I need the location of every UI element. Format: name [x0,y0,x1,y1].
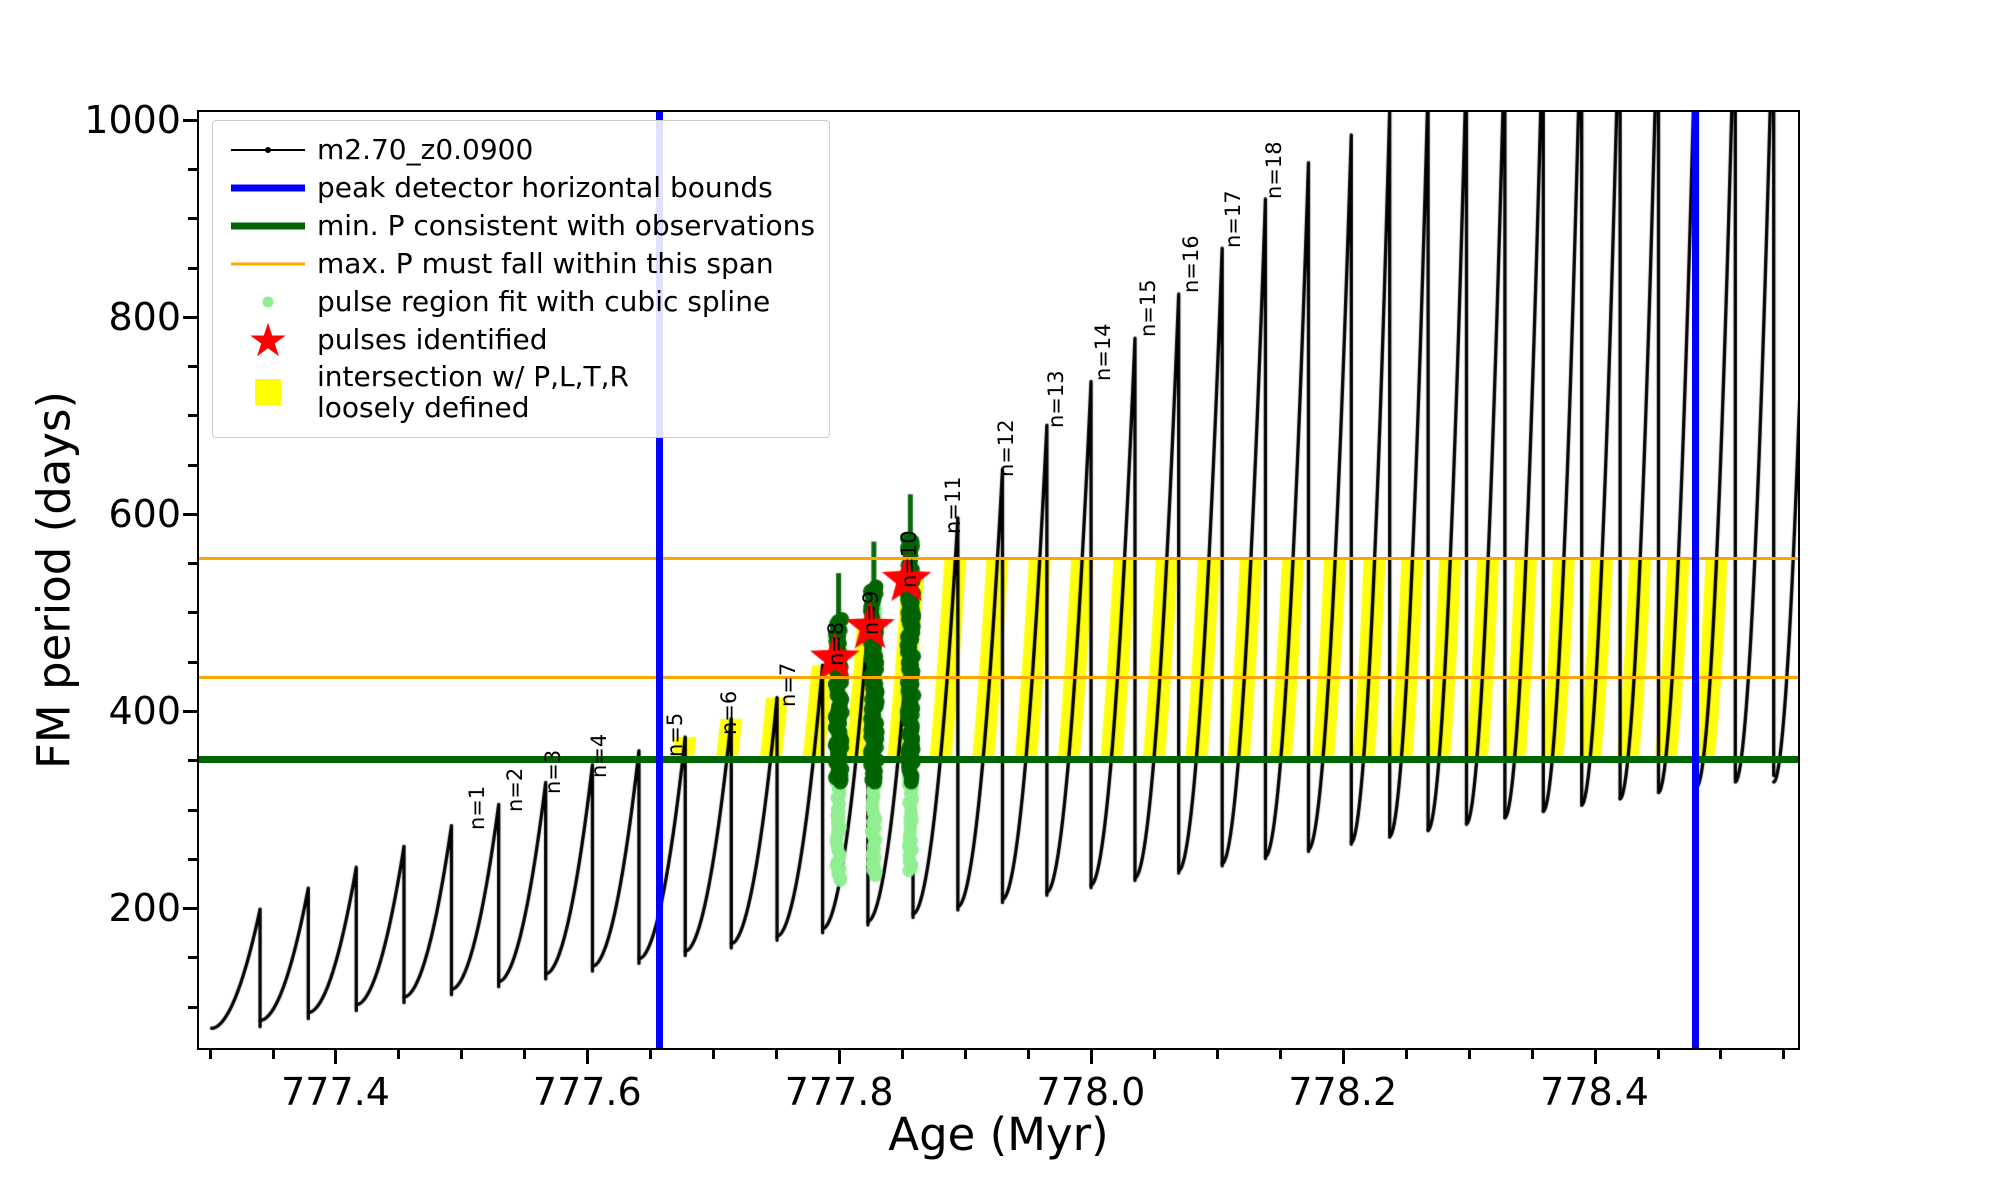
legend-item-label: pulse region fit with cubic spline [309,286,770,317]
x-tick-label: 777.4 [281,1070,390,1114]
legend-item-label: pulses identified [309,324,548,355]
y-tick-minor [188,611,197,614]
y-tick-major [183,513,197,516]
y-tick-label: 200 [108,886,181,930]
y-axis-label: FM period (days) [28,391,81,769]
x-tick-label: 778.2 [1288,1070,1397,1114]
legend: m2.70_z0.0900peak detector horizontal bo… [212,120,830,438]
x-tick-major [1594,1050,1597,1064]
y-tick-label: 600 [108,492,181,536]
x-tick-minor [1279,1050,1282,1059]
x-tick-minor [460,1050,463,1059]
pulse-number-label: n=2 [503,768,527,812]
line-icon [231,185,305,192]
x-tick-minor [1657,1050,1660,1059]
x-tick-major [334,1050,337,1064]
y-tick-major [183,316,197,319]
legend-line-marker-icon [227,131,309,169]
legend-line-icon [227,207,309,245]
x-tick-minor [649,1050,652,1059]
pulse-number-label: n=15 [1136,279,1160,337]
x-tick-label: 778.4 [1540,1070,1649,1114]
dot-icon [263,297,274,308]
x-tick-major [1342,1050,1345,1064]
legend-item-label: min. P consistent with observations [309,210,815,241]
peak-detector-bound-line [1692,112,1699,1048]
x-tick-minor [1216,1050,1219,1059]
x-tick-minor [209,1050,212,1059]
line-icon [231,223,305,230]
pulse-number-label: n=12 [994,419,1018,477]
x-tick-minor [901,1050,904,1059]
min-period-line [199,756,1798,763]
legend-item-label: intersection w/ P,L,T,Rloosely defined [309,361,629,424]
pulse-number-label: n=3 [541,750,565,794]
pulse-number-label: n=5 [663,712,687,756]
y-tick-minor [188,759,197,762]
x-tick-minor [1027,1050,1030,1059]
line-icon [231,263,305,266]
legend-star-icon: ★ [227,321,309,359]
legend-item-6[interactable]: intersection w/ P,L,T,Rloosely defined [227,359,815,425]
pulse-number-label: n=16 [1179,235,1203,293]
y-tick-label: 1000 [84,98,181,142]
legend-item-label: max. P must fall within this span [309,248,774,279]
pulse-number-label: n=17 [1221,191,1245,249]
y-tick-label: 400 [108,689,181,733]
pulse-number-label: n=14 [1091,324,1115,382]
y-tick-minor [188,858,197,861]
y-tick-major [183,119,197,122]
x-tick-minor [397,1050,400,1059]
x-tick-minor [1782,1050,1785,1059]
legend-item-1[interactable]: peak detector horizontal bounds [227,169,815,207]
pulse-number-label: n=9 [859,591,883,635]
legend-item-3[interactable]: max. P must fall within this span [227,245,815,283]
pulse-number-label: n=18 [1262,141,1286,199]
pulse-number-label: n=7 [776,663,800,707]
y-tick-minor [188,956,197,959]
x-tick-minor [775,1050,778,1059]
pulse-number-label: n=10 [897,531,921,589]
x-tick-minor [523,1050,526,1059]
legend-line-icon [227,169,309,207]
y-tick-minor [188,414,197,417]
x-tick-label: 777.6 [533,1070,642,1114]
pulse-number-label: n=1 [465,785,489,829]
x-tick-label: 777.8 [785,1070,894,1114]
y-tick-minor [188,168,197,171]
pulse-number-label: n=8 [824,622,848,666]
x-tick-minor [1468,1050,1471,1059]
y-tick-minor [188,1006,197,1009]
legend-line-icon [227,245,309,283]
x-tick-major [1090,1050,1093,1064]
y-tick-minor [188,562,197,565]
x-tick-minor [1531,1050,1534,1059]
x-tick-minor [712,1050,715,1059]
y-tick-minor [188,217,197,220]
square-icon [255,379,281,405]
legend-square-icon [227,373,309,411]
pulse-number-label: n=4 [587,734,611,778]
x-axis-label: Age (Myr) [197,1108,1800,1161]
y-tick-minor [188,661,197,664]
y-tick-minor [188,464,197,467]
max-period-span-line [199,557,1798,560]
x-tick-minor [964,1050,967,1059]
figure-root: FM period (days) Age (Myr) 1000800600400… [0,0,2000,1200]
x-tick-label: 778.0 [1037,1070,1146,1114]
y-tick-minor [188,365,197,368]
x-tick-minor [1719,1050,1722,1059]
y-tick-label: 800 [108,295,181,339]
legend-item-4[interactable]: pulse region fit with cubic spline [227,283,815,321]
legend-item-label: m2.70_z0.0900 [309,134,533,165]
legend-item-label: peak detector horizontal bounds [309,172,773,203]
x-tick-major [838,1050,841,1064]
y-tick-minor [188,809,197,812]
point-icon [265,147,271,153]
y-tick-minor [188,267,197,270]
max-period-span-line [199,676,1798,679]
legend-item-5[interactable]: ★pulses identified [227,321,815,359]
x-axis-ticks: 777.4777.6777.8778.0778.2778.4 [197,1050,1800,1110]
pulse-number-label: n=11 [941,476,965,534]
x-tick-major [586,1050,589,1064]
y-axis-label-holder: FM period (days) [62,110,63,1050]
x-tick-minor [272,1050,275,1059]
x-tick-minor [1405,1050,1408,1059]
x-tick-minor [1153,1050,1156,1059]
pulse-number-label: n=6 [717,691,741,735]
legend-item-0[interactable]: m2.70_z0.0900 [227,131,815,169]
pulse-number-label: n=13 [1044,370,1068,428]
legend-item-2[interactable]: min. P consistent with observations [227,207,815,245]
y-tick-major [183,710,197,713]
y-tick-major [183,907,197,910]
